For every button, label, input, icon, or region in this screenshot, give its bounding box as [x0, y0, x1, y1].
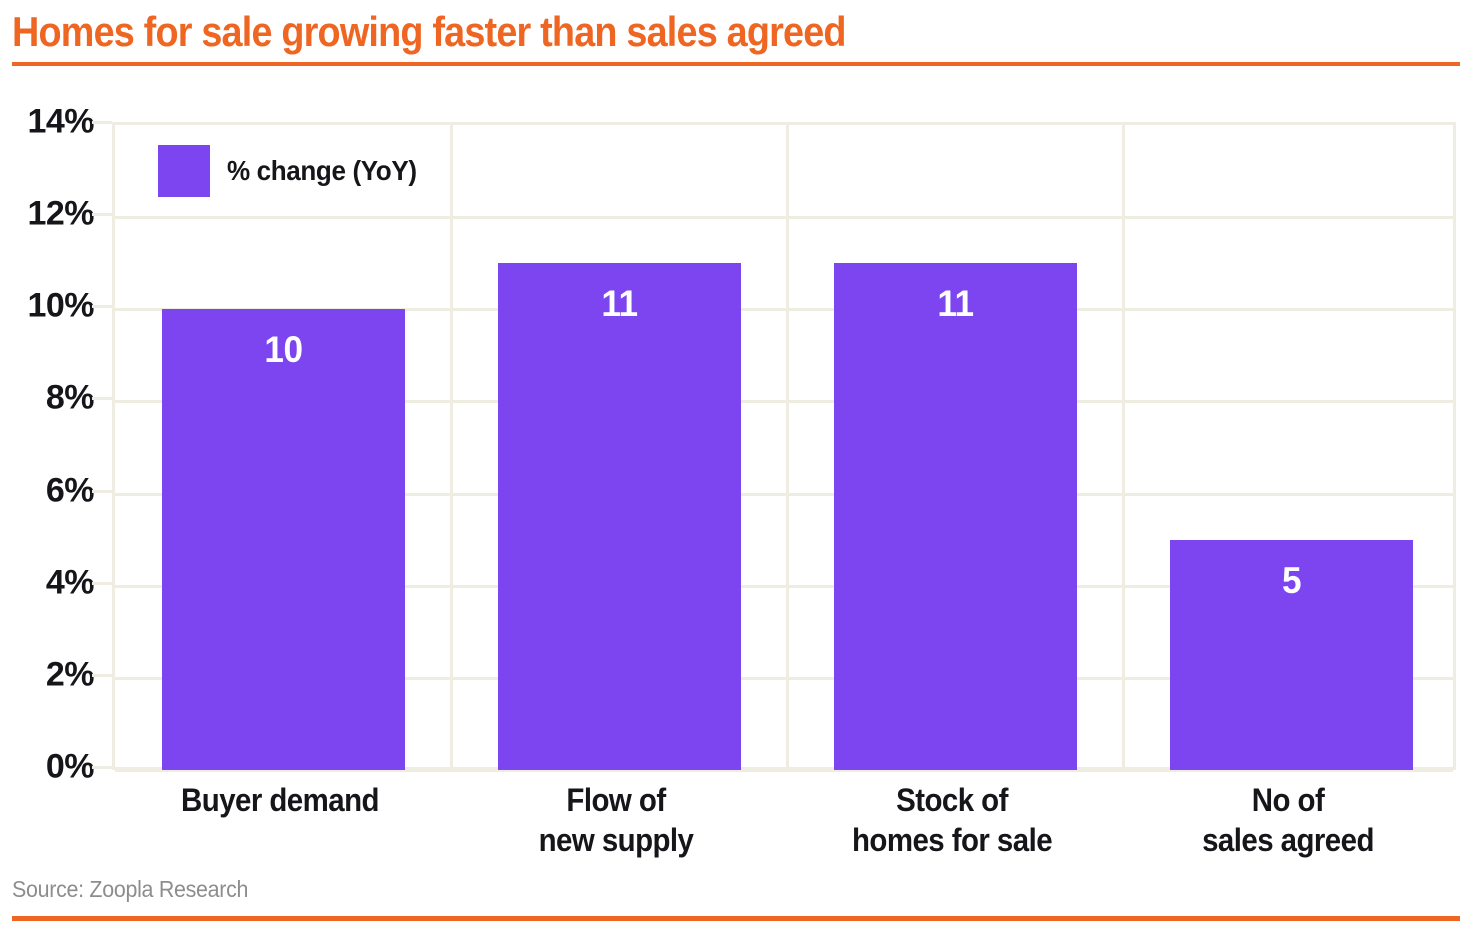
- x-axis-category-label: Buyer demand: [125, 780, 434, 820]
- gridline-horizontal: [115, 216, 1453, 219]
- footer-divider-rule: [12, 916, 1460, 921]
- legend: % change (YoY): [158, 145, 431, 197]
- y-axis-tick-label: 0%: [46, 748, 94, 787]
- y-axis-tick-label: 6%: [46, 471, 94, 510]
- y-axis-tick-mark: [92, 213, 112, 216]
- gridline-vertical: [786, 125, 789, 767]
- legend-label: % change (YoY): [227, 155, 417, 187]
- y-axis-tick-label: 8%: [46, 379, 94, 418]
- x-axis-category-line: new supply: [461, 820, 770, 860]
- x-axis-category-line: Stock of: [797, 780, 1106, 820]
- chart-title: Homes for sale growing faster than sales…: [12, 8, 846, 56]
- x-axis-category-line: Flow of: [461, 780, 770, 820]
- bar-value-label: 10: [168, 329, 399, 371]
- gridline-vertical: [1122, 125, 1125, 767]
- source-note: Source: Zoopla Research: [12, 876, 248, 903]
- x-axis-category-line: No of: [1133, 780, 1442, 820]
- y-axis-tick-mark: [92, 766, 112, 769]
- legend-swatch-icon: [158, 145, 210, 197]
- bar: [834, 263, 1077, 770]
- bar: [498, 263, 741, 770]
- bar: [162, 309, 405, 770]
- y-axis-tick-label: 2%: [46, 655, 94, 694]
- x-axis-category-line: Buyer demand: [125, 780, 434, 820]
- y-axis-tick-mark: [92, 121, 112, 124]
- x-axis-category-label: No ofsales agreed: [1133, 780, 1442, 860]
- x-axis-category-line: homes for sale: [797, 820, 1106, 860]
- x-axis-category-line: sales agreed: [1133, 820, 1442, 860]
- y-axis-tick-label: 10%: [27, 287, 94, 326]
- x-axis-category-label: Flow ofnew supply: [461, 780, 770, 860]
- x-axis-category-label: Stock ofhomes for sale: [797, 780, 1106, 860]
- y-axis-tick-mark: [92, 582, 112, 585]
- gridline-vertical: [450, 125, 453, 767]
- chart-figure: Homes for sale growing faster than sales…: [0, 0, 1480, 940]
- y-axis-tick-label: 14%: [27, 103, 94, 142]
- y-axis-tick-label: 12%: [27, 195, 94, 234]
- plot-area: 1011115 % change (YoY): [112, 122, 1456, 770]
- y-axis-tick-mark: [92, 397, 112, 400]
- title-divider-rule: [12, 62, 1460, 66]
- y-axis-tick-mark: [92, 490, 112, 493]
- bar-value-label: 5: [1176, 560, 1407, 602]
- bar-value-label: 11: [504, 283, 735, 325]
- y-axis-tick-mark: [92, 305, 112, 308]
- y-axis-tick-label: 4%: [46, 563, 94, 602]
- y-axis-tick-mark: [92, 674, 112, 677]
- bar-value-label: 11: [840, 283, 1071, 325]
